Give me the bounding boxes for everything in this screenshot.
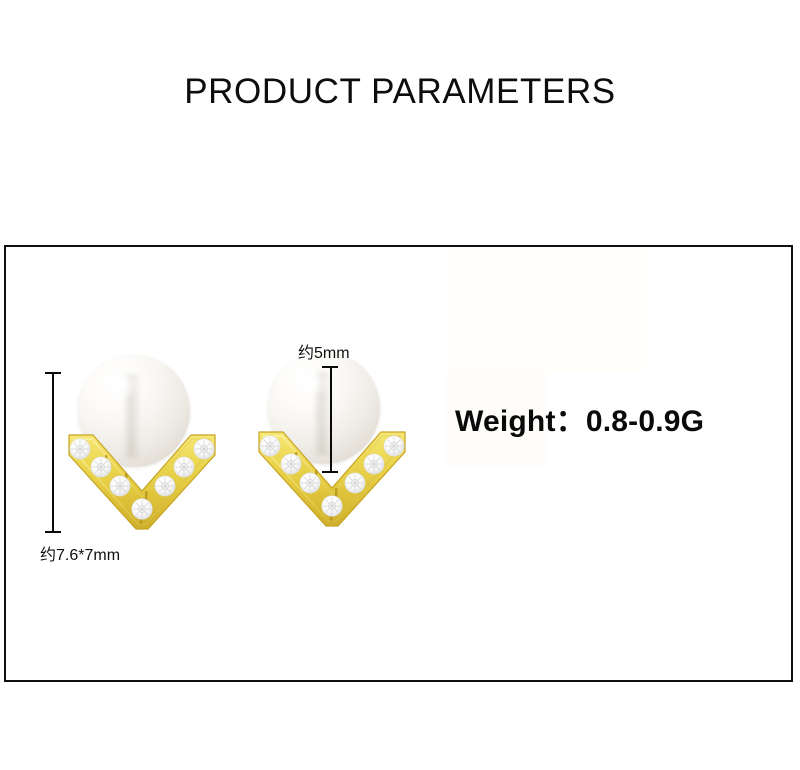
dimension-line-overall xyxy=(52,372,54,533)
dimension-cap-pearl-bottom xyxy=(322,471,338,473)
product-parameters-page: PRODUCT PARAMETERS xyxy=(0,0,800,770)
earring-right xyxy=(252,352,412,532)
weight-spec-text: Weight：0.8-0.9G xyxy=(455,396,704,440)
dimension-line-pearl xyxy=(330,366,332,473)
chevron-setting-right xyxy=(252,426,412,532)
panel-background-tint xyxy=(446,247,646,372)
dimension-label-overall: 约7.6*7mm xyxy=(40,541,120,565)
dimension-label-pearl: 约5mm xyxy=(298,339,350,363)
chevron-setting-left xyxy=(62,429,222,535)
dimension-cap-pearl-top xyxy=(322,366,338,368)
dimension-cap-overall-top xyxy=(45,372,61,374)
earring-left xyxy=(62,355,222,535)
page-title: PRODUCT PARAMETERS xyxy=(0,74,800,109)
dimension-cap-overall-bottom xyxy=(45,531,61,533)
